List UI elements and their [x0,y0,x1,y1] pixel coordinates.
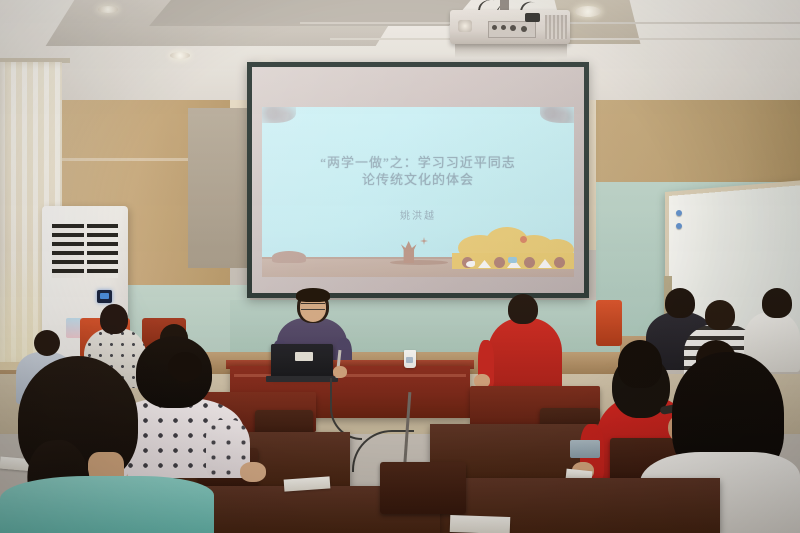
slide-author: 姚洪越 [262,207,574,222]
lecture-hall-photo: “两学一做”之：学习习近平同志 论传统文化的体会 姚洪越 [0,0,800,533]
projector-port-icon [492,25,497,30]
presenter-hair [296,288,330,302]
audience-member [0,476,214,533]
projector-lens-icon [458,20,472,32]
slide-sun-icon [520,236,527,243]
slide-bird-icon [466,261,475,267]
ceiling-downlight-icon [575,6,601,17]
slide-bush-icon [272,251,306,263]
glasses-icon [301,303,325,310]
slide-dot-icon [524,257,535,268]
slide-dot-icon [554,257,565,268]
ceiling-downlight-icon [98,6,118,13]
slide-path [390,260,448,265]
handheld-device[interactable] [570,440,600,458]
paper-sheet[interactable] [450,515,511,533]
slide-dot-icon [494,257,505,268]
projector-shadow [455,44,567,58]
slide-title: “两学一做”之：学习习近平同志 论传统文化的体会 [262,154,574,188]
audience-member-head [508,294,538,324]
chair-back [380,462,466,514]
slide-accent-shape [508,257,517,263]
whiteboard-magnet-icon[interactable] [676,210,682,216]
presentation-slide: “两学一做”之：学习习近平同志 论传统文化的体会 姚洪越 [262,107,574,277]
wall-panel-dark [188,108,248,268]
audience-member-head [34,330,60,356]
audience-member-head [762,288,792,318]
paper-cup-label [406,357,413,363]
laptop-base [266,376,338,382]
slide-corner-ornament [262,107,296,123]
audience-member-head [705,300,735,330]
presenter-hand [333,366,347,378]
seat-orange[interactable] [596,300,622,346]
audience-member-hand [240,462,266,482]
ceiling-downlight-icon [170,52,190,59]
projector-cable-connector [525,13,540,22]
projector-port-icon [501,25,506,30]
audience-member-head [618,340,662,388]
whiteboard-magnet-icon[interactable] [676,223,682,229]
audience-member-head [665,288,695,318]
laptop-icon[interactable] [271,344,333,378]
slide-corner-ornament [540,107,574,123]
audience-member-hair-bun [168,352,202,382]
projector-port-icon [521,26,527,32]
audience-member-head [100,304,128,334]
laptop-label [295,352,313,361]
projector-port-icon [510,25,516,31]
audience-member [488,318,562,394]
projection-screen: “两学一做”之：学习习近平同志 论传统文化的体会 姚洪越 [252,67,584,293]
air-conditioner-vent-divider [84,224,87,278]
air-conditioner-display-readout [100,293,109,299]
slide-spark-icon [420,237,428,245]
projector-vent [545,15,567,39]
